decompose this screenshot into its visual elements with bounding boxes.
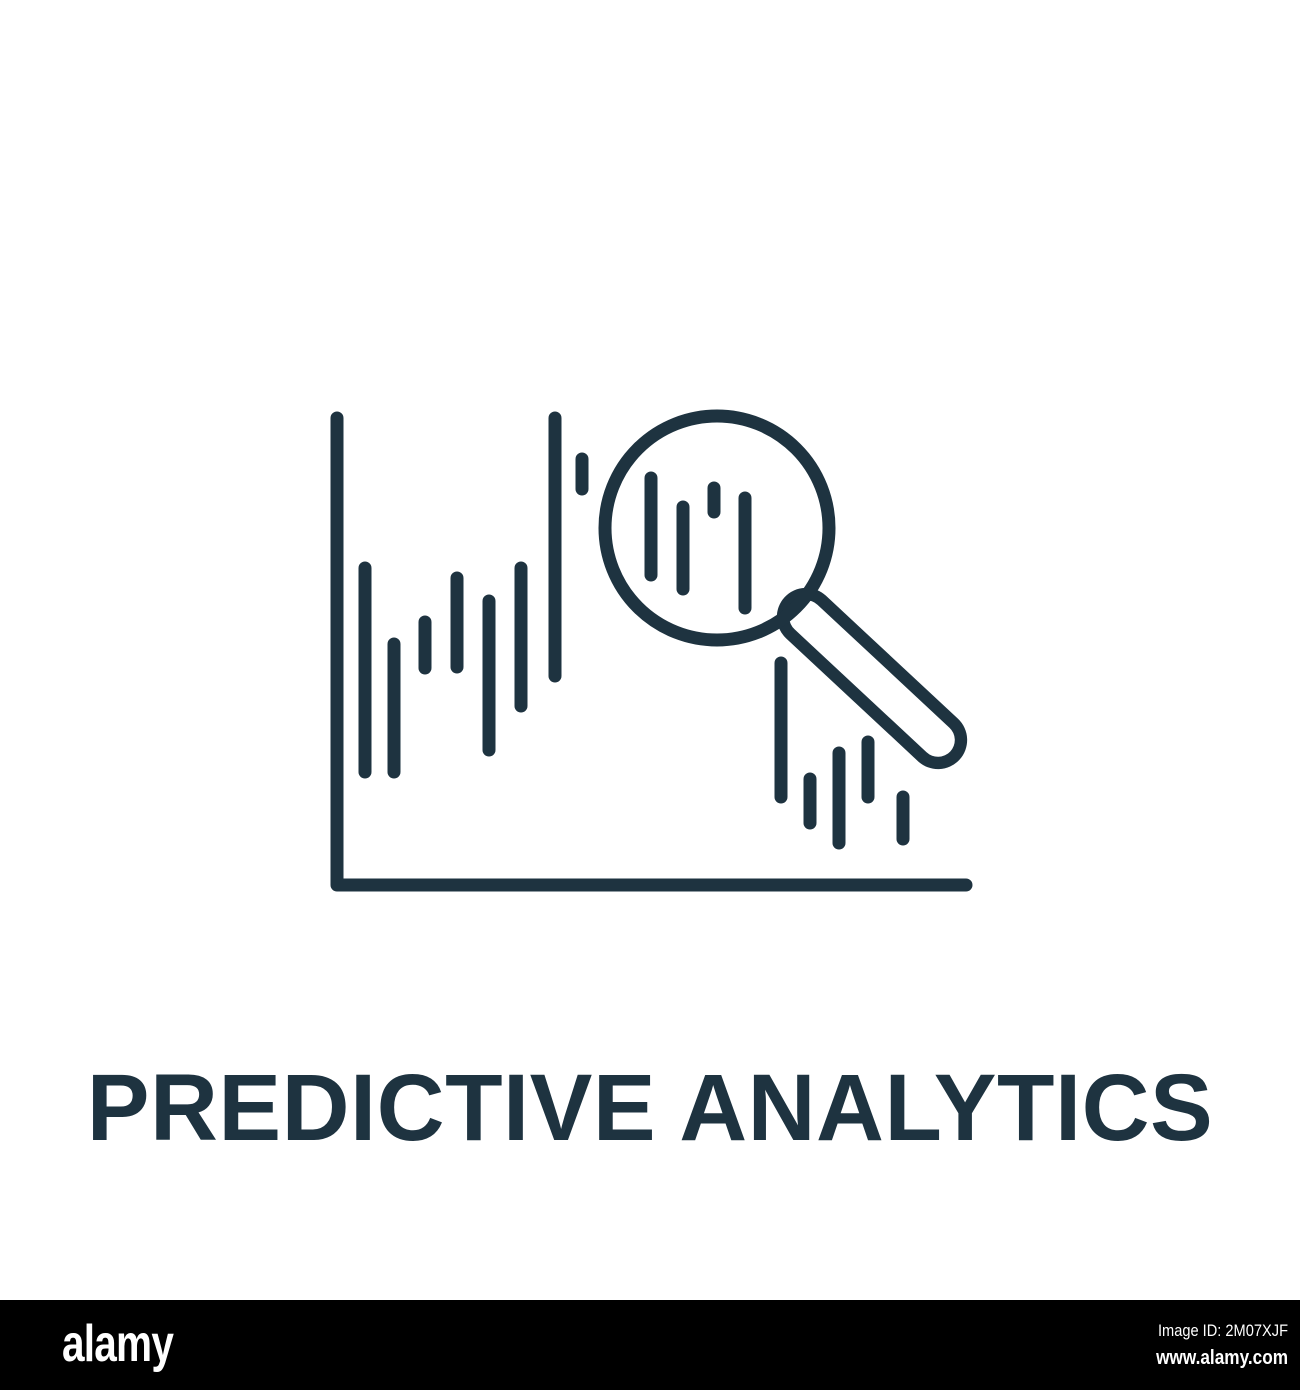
alamy-logo: alamy xyxy=(62,1318,173,1370)
page-title: PREDICTIVE ANALYTICS xyxy=(7,1058,1294,1158)
footer-meta: Image ID: 2M07XJF www.alamy.com xyxy=(988,1318,1288,1373)
screenshot-canvas: PREDICTIVE ANALYTICS alamy Image ID: 2M0… xyxy=(0,0,1300,1390)
magnifier-handle-icon xyxy=(806,617,938,740)
site-url-label: www.alamy.com xyxy=(1030,1343,1288,1373)
bars-in-lens-group xyxy=(651,478,745,608)
image-id-label: Image ID: 2M07XJF xyxy=(1030,1318,1288,1343)
footer-bar: alamy Image ID: 2M07XJF www.alamy.com xyxy=(0,1300,1300,1390)
bars-left-group xyxy=(365,418,582,772)
icon-artwork xyxy=(0,0,1300,1000)
magnifier-lens-icon xyxy=(605,416,829,640)
predictive-analytics-icon xyxy=(0,0,1300,1000)
